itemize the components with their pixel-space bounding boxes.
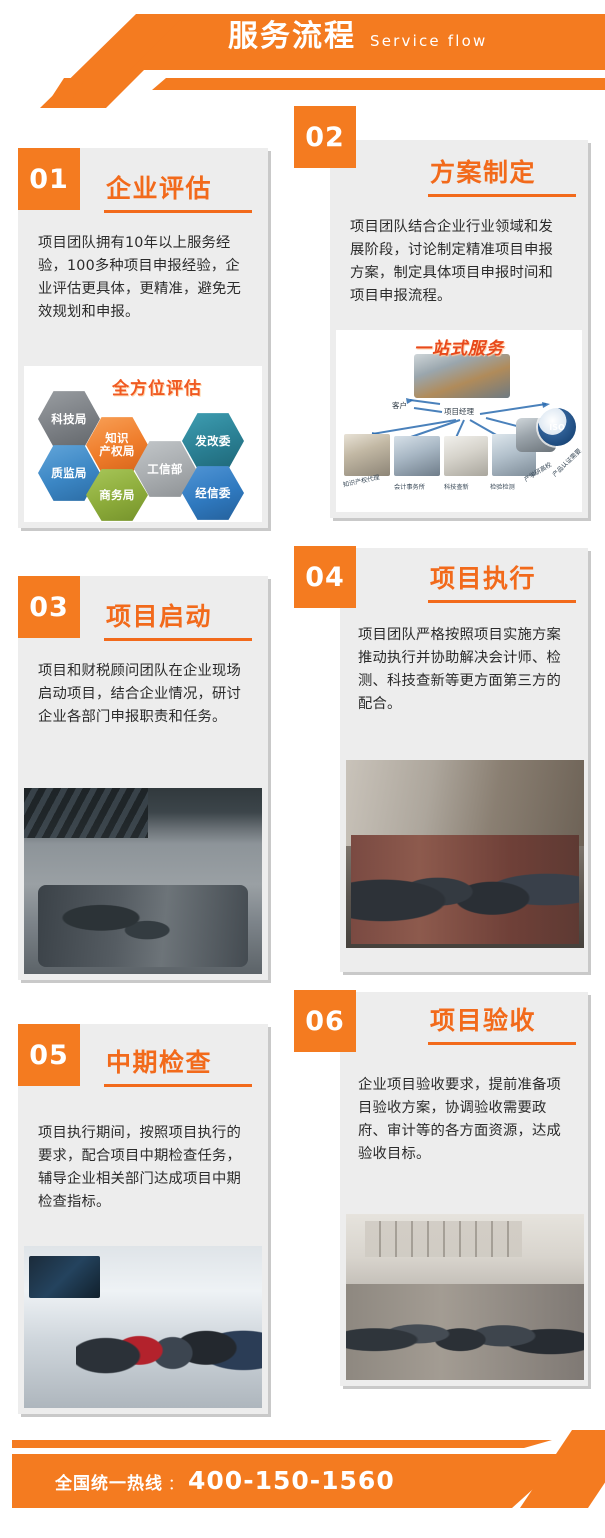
- process-card-02: 方案制定 项目团队结合企业行业领域和发展阶段，讨论制定精准项目申报方案，制定具体…: [330, 140, 588, 518]
- card-01-media: 全方位评估 科技局 质监局 知识 产权局 商务局 工信部 发改委 经信委: [24, 366, 262, 522]
- card-01-body: 项目团队拥有10年以上服务经验，100多种项目申报经验，企业评估更具体，更精准，…: [38, 232, 250, 325]
- hexagon-node-label: 质监局: [51, 467, 86, 480]
- hexagon-diagram-title: 全方位评估: [112, 374, 202, 399]
- card-06-body: 企业项目验收要求，提前准备项目验收方案，协调验收需要政府、审计等的各方面资源，达…: [358, 1074, 574, 1167]
- photo-lobby-visit: [24, 1246, 262, 1408]
- page-footer-banner: 全国统一热线 ： 400-150-1560: [0, 1430, 605, 1538]
- hexagon-node-label: 科技局: [51, 413, 86, 426]
- header-title-group: 服务流程 Service flow: [228, 22, 488, 52]
- one-stop-title: 一站式服务: [414, 334, 504, 359]
- hexagon-node-label: 工信部: [147, 463, 182, 476]
- hexagon-node-label: 商务局: [99, 489, 134, 502]
- photo-meeting-room: [24, 788, 262, 974]
- card-05-number-badge: 05: [18, 1024, 80, 1086]
- card-04-body: 项目团队严格按照项目实施方案推动执行并协助解决会计师、检测、科技查新等更方面第三…: [358, 624, 574, 717]
- card-06-media: [346, 1214, 584, 1380]
- card-03-body: 项目和财税顾问团队在企业现场启动项目，结合企业情况，研讨企业各部门申报职责和任务…: [38, 660, 250, 729]
- card-01-title: 企业评估: [106, 176, 212, 201]
- card-06-number-badge: 06: [294, 990, 356, 1052]
- footer-thin-line: [12, 1440, 552, 1448]
- card-03-title: 项目启动: [106, 604, 212, 629]
- card-05-media: [24, 1246, 262, 1408]
- hexagon-node-label: 知识 产权局: [99, 432, 134, 458]
- iso-seal-icon: ISO: [538, 408, 576, 446]
- one-stop-caption-3: 检验检测: [490, 482, 515, 491]
- card-04-title-underline: [428, 600, 576, 603]
- one-stop-tile-search: [444, 436, 488, 476]
- hexagon-diagram: 全方位评估 科技局 质监局 知识 产权局 商务局 工信部 发改委 经信委: [24, 366, 262, 522]
- hexagon-node-label: 经信委: [195, 487, 230, 500]
- iso-seal-text: ISO: [549, 423, 565, 432]
- hotline-group: 全国统一热线 ： 400-150-1560: [55, 1466, 395, 1495]
- card-04-title: 项目执行: [430, 566, 536, 591]
- one-stop-caption-2: 科技查新: [444, 482, 469, 491]
- card-03-title-underline: [104, 638, 252, 641]
- card-06-title: 项目验收: [430, 1008, 536, 1033]
- one-stop-service-diagram: 一站式服务 客户 项目经理: [336, 330, 582, 512]
- card-02-title: 方案制定: [430, 160, 536, 185]
- one-stop-caption-1: 会计事务所: [394, 482, 425, 491]
- card-01-number-badge: 01: [18, 148, 80, 210]
- one-stop-tile-ip: [344, 434, 390, 476]
- card-04-number-badge: 04: [294, 546, 356, 608]
- card-06-title-underline: [428, 1042, 576, 1045]
- card-02-body: 项目团队结合企业行业领域和发展阶段，讨论制定精准项目申报方案，制定具体项目申报时…: [350, 216, 564, 309]
- card-01-title-underline: [104, 210, 252, 213]
- photo-conference-hall: [346, 1214, 584, 1380]
- process-card-06: 项目验收 企业项目验收要求，提前准备项目验收方案，协调验收需要政府、审计等的各方…: [340, 992, 588, 1386]
- card-03-number-badge: 03: [18, 576, 80, 638]
- card-05-title-underline: [104, 1084, 252, 1087]
- header-orange-band-thin: [152, 78, 605, 90]
- card-02-number-badge: 02: [294, 106, 356, 168]
- page-subtitle: Service flow: [370, 34, 488, 49]
- page-header-banner: 服务流程 Service flow: [0, 0, 605, 108]
- hotline-number[interactable]: 400-150-1560: [188, 1466, 395, 1495]
- process-card-04: 项目执行 项目团队严格按照项目实施方案推动执行并协助解决会计师、检测、科技查新等…: [340, 548, 588, 972]
- card-05-body: 项目执行期间，按照项目执行的要求，配合项目中期检查任务，辅导企业相关部门达成项目…: [38, 1122, 250, 1215]
- hotline-colon: ：: [165, 1473, 186, 1494]
- card-04-media: [346, 760, 584, 948]
- card-03-media: [24, 788, 262, 974]
- page-title: 服务流程: [228, 22, 356, 52]
- card-05-title: 中期检查: [106, 1050, 212, 1075]
- one-stop-tile-accounting: [394, 436, 440, 476]
- hotline-label: 全国统一热线: [55, 1469, 163, 1494]
- photo-working-meeting: [346, 760, 584, 948]
- card-02-title-underline: [428, 194, 576, 197]
- hexagon-node-label: 发改委: [195, 435, 230, 448]
- card-02-media: 一站式服务 客户 项目经理: [336, 330, 582, 512]
